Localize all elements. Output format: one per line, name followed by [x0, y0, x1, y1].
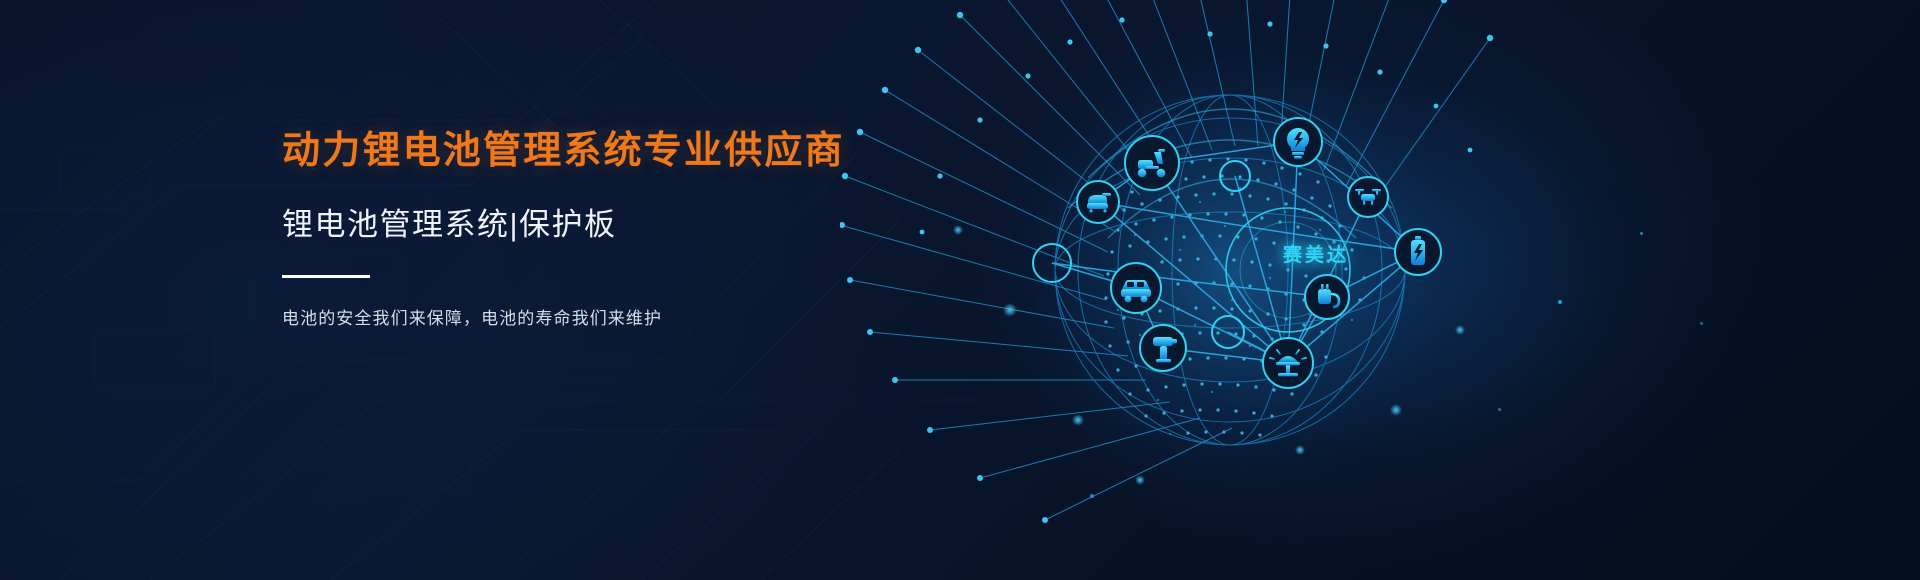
title-divider: [282, 275, 370, 278]
sparkle-dot: [1498, 408, 1501, 411]
node-plug[interactable]: [1305, 275, 1349, 319]
node-lamp[interactable]: [1263, 338, 1313, 388]
sparkle-dot: [1090, 494, 1094, 498]
sparkle-dot: [1640, 232, 1643, 235]
node-bulb[interactable]: [1274, 118, 1322, 166]
battery-icon: [1411, 236, 1425, 265]
node-sofa[interactable]: [1077, 181, 1119, 223]
node-car[interactable]: [1111, 263, 1161, 313]
hero-banner: 动力锂电池管理系统专业供应商 锂电池管理系统|保护板 电池的安全我们来保障，电池…: [0, 0, 1920, 580]
node-drone[interactable]: [1348, 177, 1388, 217]
node-drill[interactable]: [1140, 325, 1186, 371]
globe-svg: [840, 0, 1520, 580]
node-battery[interactable]: [1395, 229, 1441, 275]
sparkle-dot: [1558, 300, 1562, 304]
sparkle-dot: [1700, 322, 1703, 325]
node-scooter[interactable]: [1125, 136, 1179, 190]
connected-globe-illustration: [840, 0, 1520, 580]
